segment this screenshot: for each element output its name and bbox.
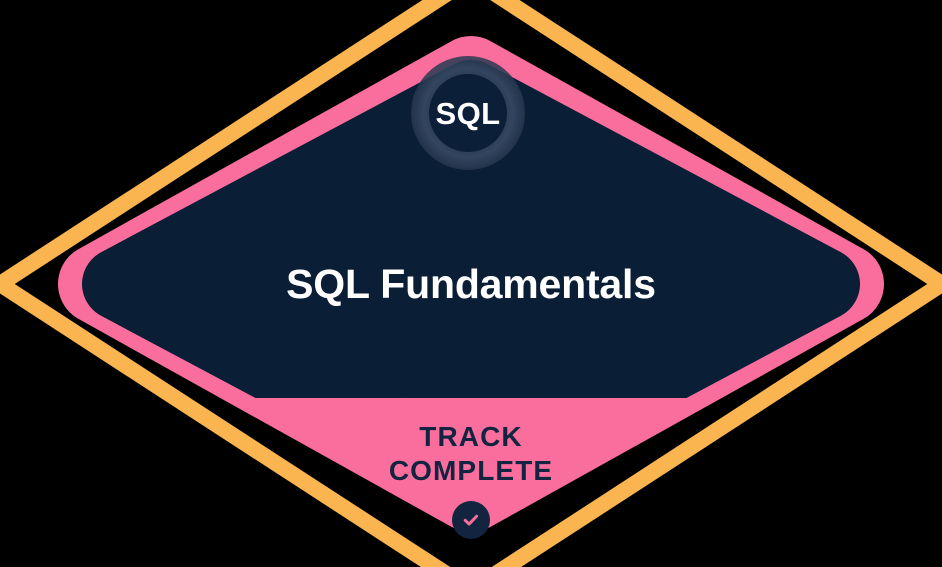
badge-artwork xyxy=(0,0,942,567)
badge-stage: SQL SQL Fundamentals TRACK COMPLETE xyxy=(0,0,942,567)
